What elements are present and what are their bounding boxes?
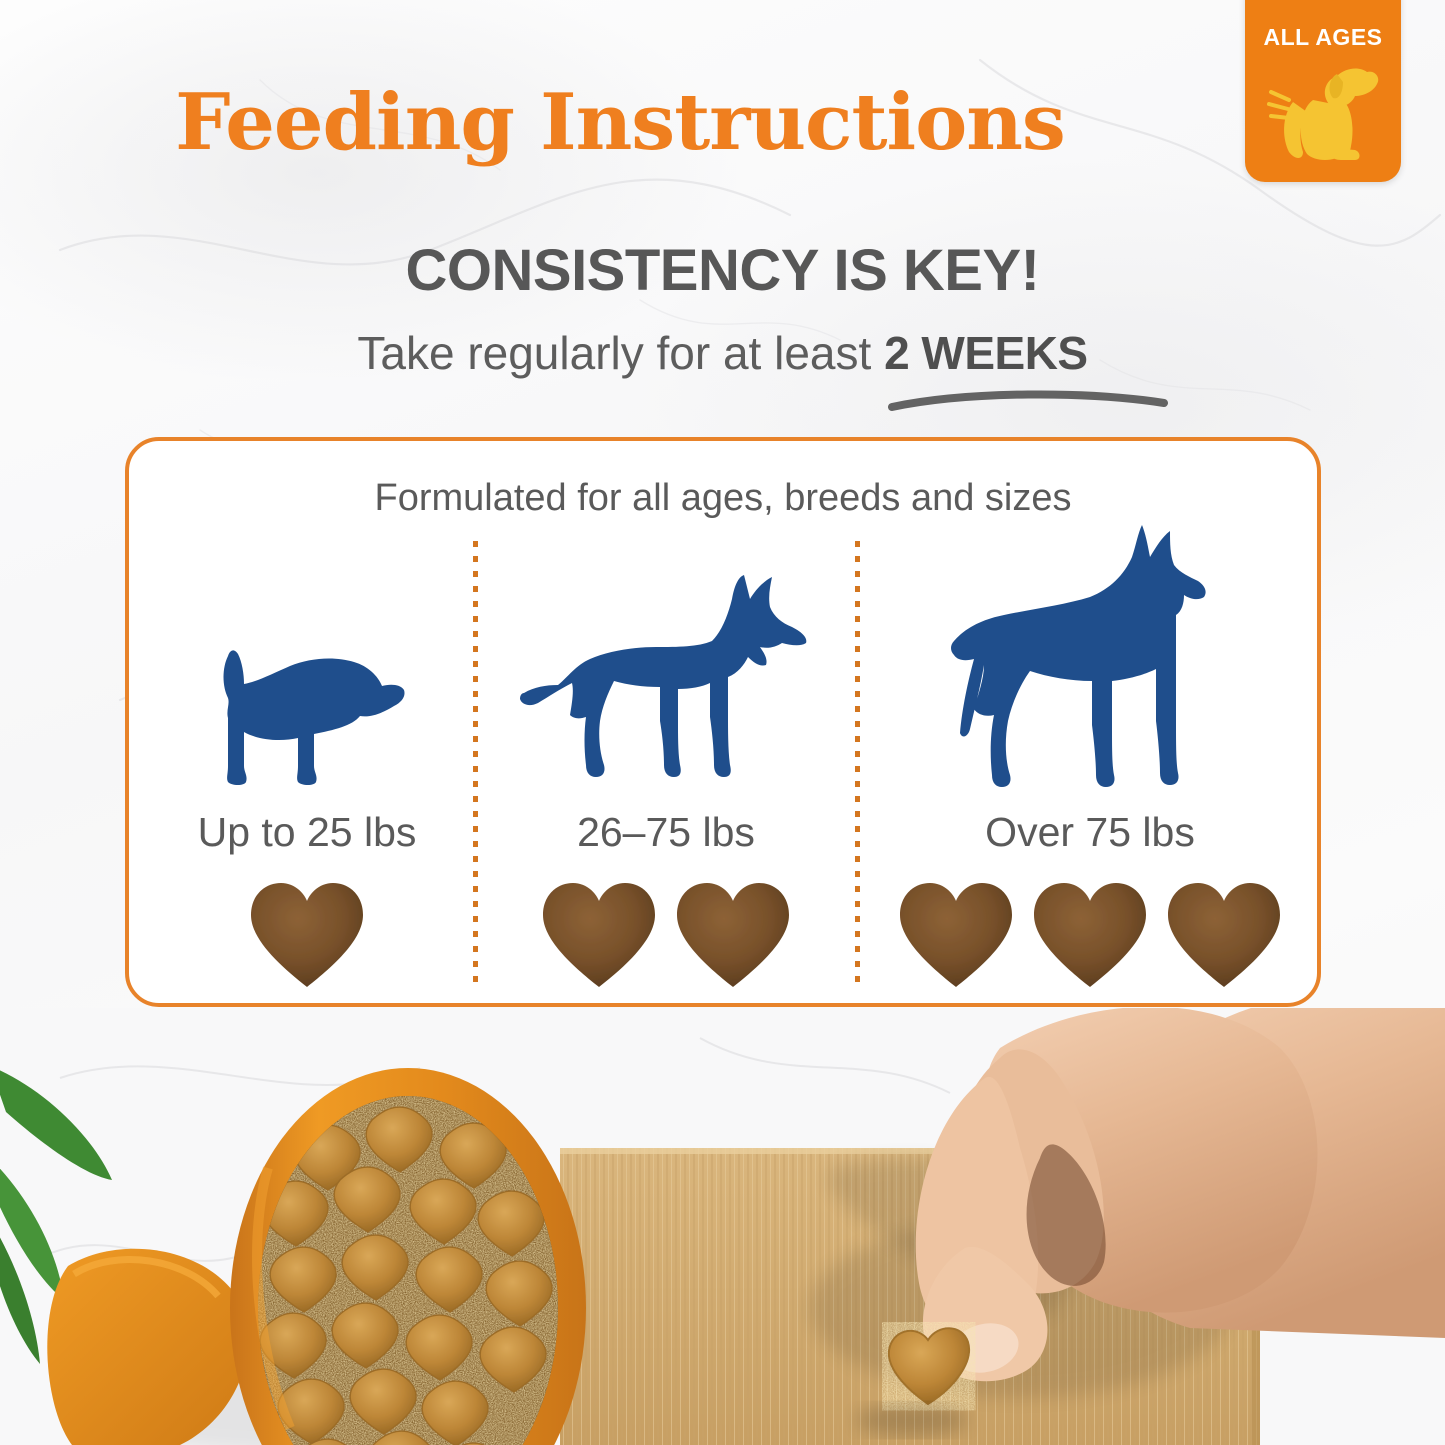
sitting-dog-icon xyxy=(1259,48,1387,168)
tagline-prefix: Take regularly for at least xyxy=(357,327,884,379)
page-title: Feeding Instructions xyxy=(0,84,1240,162)
small-dog-icon xyxy=(202,634,412,789)
kibble-heart xyxy=(1162,873,1286,993)
large-dog-illustration xyxy=(859,523,1321,789)
size-column-large: Over 75 lbs xyxy=(859,481,1321,1001)
size-column-medium: 26–75 lbs xyxy=(479,481,853,1001)
kibble-heart xyxy=(245,873,369,993)
container-lid xyxy=(47,1249,248,1445)
medium-dog-illustration xyxy=(479,571,853,789)
weight-label-medium: 26–75 lbs xyxy=(479,812,853,853)
kibble-heart xyxy=(671,873,795,993)
underline-swoosh xyxy=(888,386,1168,412)
kibble-heart xyxy=(894,873,1018,993)
weight-label-large: Over 75 lbs xyxy=(859,812,1321,853)
subtitle-consistency: CONSISTENCY IS KEY! xyxy=(0,242,1445,300)
serving-hearts-large xyxy=(859,873,1321,993)
badge-label: ALL AGES xyxy=(1245,24,1401,51)
medium-dog-icon xyxy=(516,571,816,789)
size-column-small: Up to 25 lbs xyxy=(139,481,475,1001)
kibble-heart xyxy=(1028,873,1152,993)
tagline: Take regularly for at least 2 WEEKS xyxy=(0,330,1445,376)
serving-hearts-medium xyxy=(479,873,853,993)
large-dog-icon xyxy=(940,523,1240,789)
kibble-heart xyxy=(537,873,661,993)
product-photo-scene xyxy=(0,1008,1445,1445)
weight-label-small: Up to 25 lbs xyxy=(139,812,475,853)
serving-hearts-small xyxy=(139,873,475,993)
tagline-emphasis: 2 WEEKS xyxy=(884,327,1088,379)
feeding-chart-card: Formulated for all ages, breeds and size… xyxy=(125,437,1321,1007)
all-ages-badge: ALL AGES xyxy=(1245,0,1401,182)
small-dog-illustration xyxy=(139,634,475,789)
